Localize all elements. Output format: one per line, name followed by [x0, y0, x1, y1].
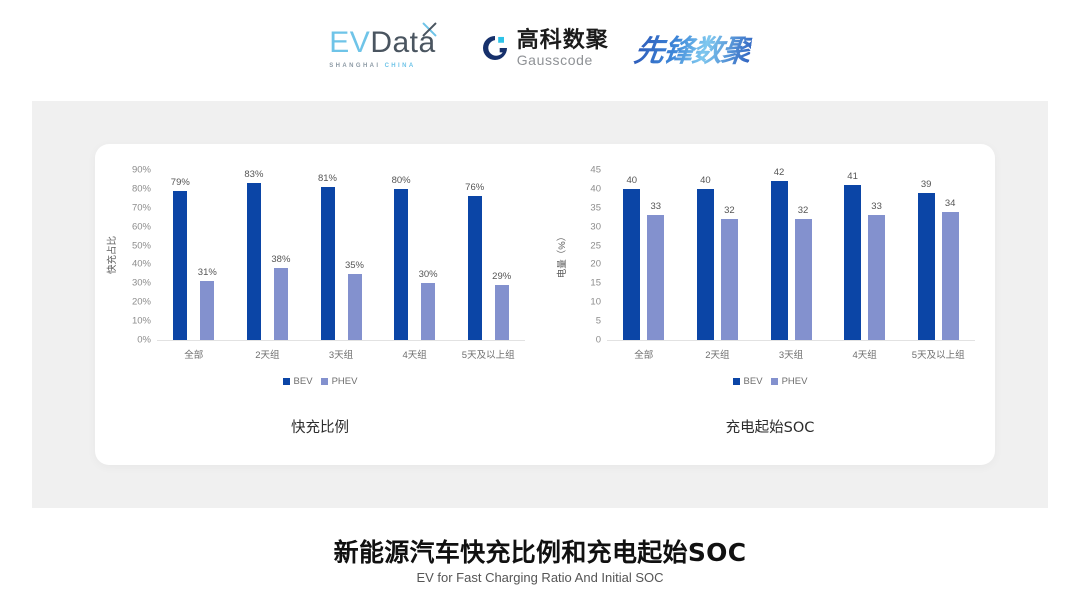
chart-legend: BEVPHEV — [545, 376, 995, 387]
bar-value-label: 33 — [871, 201, 882, 212]
gausscode-text: 高科数聚 Gausscode — [517, 29, 609, 67]
bar-bev — [623, 189, 640, 340]
legend-swatch-icon — [733, 378, 740, 385]
plot-area: 电量（%）4540353025201510504033全部40322天组4232… — [545, 144, 995, 465]
bar-bev — [321, 187, 335, 340]
bar-value-label: 41 — [847, 171, 858, 182]
page-subtitle: EV for Fast Charging Ratio And Initial S… — [0, 570, 1080, 585]
y-axis-tick: 70% — [115, 202, 151, 213]
x-axis-tick: 2天组 — [255, 347, 279, 361]
bar-phev — [868, 215, 885, 340]
bar-value-label: 81% — [318, 173, 337, 184]
bar-value-label: 83% — [244, 169, 263, 180]
y-axis-tick: 45 — [565, 165, 601, 176]
bar-bev — [394, 189, 408, 340]
bar-value-label: 32 — [724, 205, 735, 216]
y-axis-tick: 30% — [115, 278, 151, 289]
bar-value-label: 76% — [465, 182, 484, 193]
y-axis-tick: 80% — [115, 183, 151, 194]
y-axis-tick: 30 — [565, 221, 601, 232]
legend-item-bev[interactable]: BEV — [733, 376, 763, 387]
x-axis-tick: 5天及以上组 — [912, 347, 965, 361]
bar-phev — [942, 212, 959, 340]
evdata-word-ev: EV — [329, 26, 370, 59]
gausscode-logo: 高科数聚 Gausscode — [480, 29, 609, 67]
y-axis-tick: 35 — [565, 202, 601, 213]
x-axis-line — [157, 340, 525, 341]
legend-label: PHEV — [332, 376, 358, 387]
legend-swatch-icon — [771, 378, 778, 385]
evdata-tagline: SHANGHAI CHINA — [329, 63, 415, 69]
legend-label: BEV — [294, 376, 313, 387]
y-axis-tick: 60% — [115, 221, 151, 232]
chart-fast-charging-ratio: 快充占比90%80%70%60%50%40%30%20%10%0%79%31%全… — [95, 144, 545, 465]
page-title: 新能源汽车快充比例和充电起始SOC — [0, 533, 1080, 569]
bar-phev — [200, 281, 214, 340]
y-axis-tick: 20 — [565, 259, 601, 270]
bar-value-label: 79% — [171, 177, 190, 188]
bar-bev — [697, 189, 714, 340]
chart-caption: 充电起始SOC — [545, 416, 995, 437]
bar-bev — [918, 193, 935, 340]
y-axis-tick: 20% — [115, 297, 151, 308]
bar-phev — [348, 274, 362, 340]
legend-item-bev[interactable]: BEV — [283, 376, 313, 387]
chart-caption: 快充比例 — [95, 416, 545, 437]
bar-value-label: 42 — [774, 167, 785, 178]
y-axis-tick: 25 — [565, 240, 601, 251]
y-axis-tick: 0% — [115, 335, 151, 346]
evdata-tagline-country: CHINA — [385, 63, 416, 69]
x-axis-tick: 2天组 — [705, 347, 729, 361]
bar-phev — [721, 219, 738, 340]
bar-value-label: 38% — [271, 254, 290, 265]
chart-initial-soc: 电量（%）4540353025201510504033全部40322天组4232… — [545, 144, 995, 465]
charts-row: 快充占比90%80%70%60%50%40%30%20%10%0%79%31%全… — [95, 144, 995, 465]
y-axis-tick: 90% — [115, 165, 151, 176]
bar-phev — [795, 219, 812, 340]
legend-label: BEV — [744, 376, 763, 387]
evdata-logo: EVData SHANGHAI CHINA — [329, 28, 453, 69]
bar-phev — [647, 215, 664, 340]
evdata-wordmark: EVData — [329, 28, 435, 58]
y-axis-tick: 5 — [565, 316, 601, 327]
plot-area: 快充占比90%80%70%60%50%40%30%20%10%0%79%31%全… — [95, 144, 545, 465]
x-axis-tick: 4天组 — [852, 347, 876, 361]
legend-swatch-icon — [283, 378, 290, 385]
gausscode-cn-name: 高科数聚 — [517, 29, 609, 51]
x-axis-tick: 3天组 — [779, 347, 803, 361]
bar-value-label: 40 — [700, 175, 711, 186]
y-axis-tick: 40% — [115, 259, 151, 270]
x-axis-tick: 4天组 — [402, 347, 426, 361]
bar-value-label: 35% — [345, 260, 364, 271]
bar-phev — [421, 283, 435, 340]
bar-value-label: 31% — [198, 267, 217, 278]
evdata-x-icon — [421, 21, 438, 38]
legend-item-phev[interactable]: PHEV — [321, 376, 358, 387]
bar-value-label: 34 — [945, 198, 956, 209]
xianfeng-logo: 先锋数聚 — [632, 26, 754, 70]
bar-bev — [468, 196, 482, 340]
legend-item-phev[interactable]: PHEV — [771, 376, 808, 387]
y-axis-tick: 40 — [565, 183, 601, 194]
bar-bev — [771, 181, 788, 340]
bar-value-label: 39 — [921, 179, 932, 190]
x-axis-tick: 全部 — [634, 347, 653, 361]
bar-value-label: 40 — [627, 175, 638, 186]
gausscode-en-name: Gausscode — [517, 53, 609, 67]
bar-value-label: 33 — [651, 201, 662, 212]
y-axis-tick: 0 — [565, 335, 601, 346]
y-axis-tick: 10 — [565, 297, 601, 308]
bar-phev — [274, 268, 288, 340]
bar-bev — [247, 183, 261, 340]
bar-value-label: 32 — [798, 205, 809, 216]
legend-label: PHEV — [782, 376, 808, 387]
bar-phev — [495, 285, 509, 340]
x-axis-line — [607, 340, 975, 341]
chart-legend: BEVPHEV — [95, 376, 545, 387]
evdata-tagline-city: SHANGHAI — [329, 63, 384, 69]
y-axis-tick: 50% — [115, 240, 151, 251]
bar-value-label: 29% — [492, 271, 511, 282]
bar-value-label: 30% — [419, 269, 438, 280]
y-axis-tick: 10% — [115, 316, 151, 327]
bar-bev — [173, 191, 187, 340]
gausscode-mark-icon — [480, 33, 510, 63]
y-axis-tick: 15 — [565, 278, 601, 289]
x-axis-tick: 全部 — [184, 347, 203, 361]
legend-swatch-icon — [321, 378, 328, 385]
x-axis-tick: 3天组 — [329, 347, 353, 361]
logo-strip: EVData SHANGHAI CHINA 高科数聚 Gausscode 先锋数… — [0, 0, 1080, 96]
x-axis-tick: 5天及以上组 — [462, 347, 515, 361]
bar-value-label: 80% — [392, 175, 411, 186]
bar-bev — [844, 185, 861, 340]
